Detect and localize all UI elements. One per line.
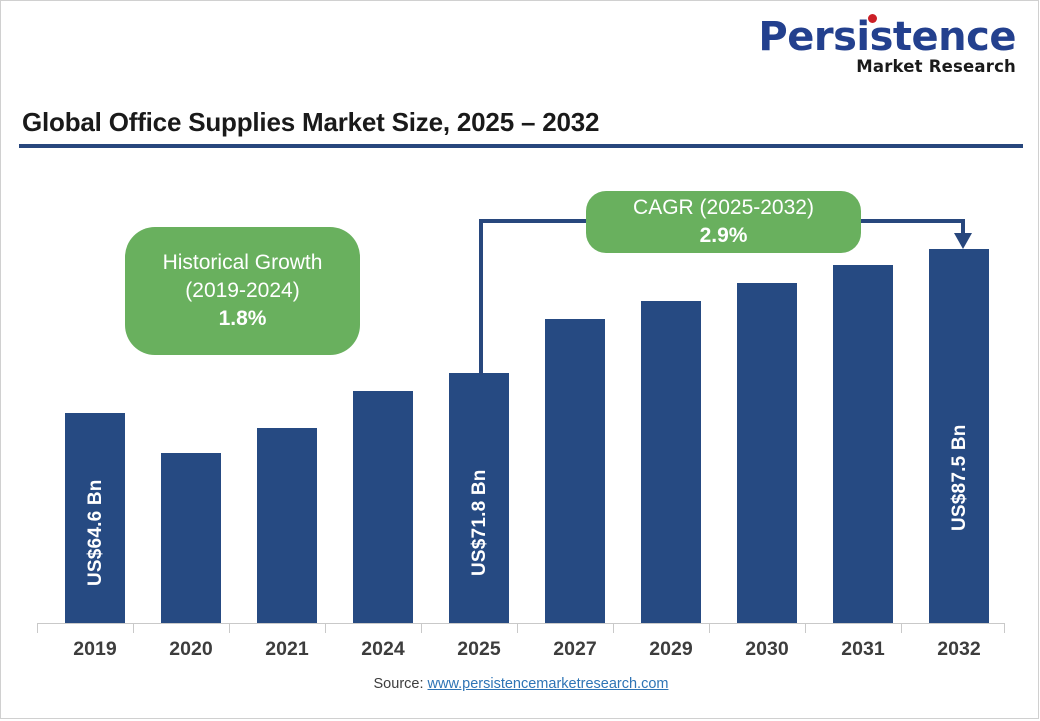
x-axis-tick (709, 623, 710, 633)
bar-label-2032: US$87.5 Bn (949, 424, 971, 531)
cagr-arrow-icon (954, 233, 972, 249)
bar-2031[interactable] (833, 265, 893, 623)
x-tick-label-2020: 2020 (151, 638, 231, 661)
bar-label-2025: US$71.8 Bn (469, 469, 491, 576)
bar-2030[interactable] (737, 283, 797, 623)
historical-growth-title: Historical Growth (163, 249, 323, 277)
bar-2021[interactable] (257, 428, 317, 623)
x-tick-label-2027: 2027 (535, 638, 615, 661)
x-tick-label-2021: 2021 (247, 638, 327, 661)
x-axis-tick (229, 623, 230, 633)
x-axis-tick (37, 623, 38, 633)
historical-growth-value: 1.8% (219, 305, 267, 333)
x-axis-tick (133, 623, 134, 633)
source-footer: Source: www.persistencemarketresearch.co… (1, 676, 1040, 692)
x-axis-tick (421, 623, 422, 633)
x-axis-tick (901, 623, 902, 633)
cagr-connector-horizontal-left (479, 219, 589, 223)
chart-card: Persistence Market Research Global Offic… (0, 0, 1039, 719)
bar-2029[interactable] (641, 301, 701, 623)
x-tick-label-2030: 2030 (727, 638, 807, 661)
cagr-title: CAGR (2025-2032) (633, 194, 814, 222)
cagr-callout[interactable]: CAGR (2025-2032) 2.9% (586, 191, 861, 253)
x-axis-tick (613, 623, 614, 633)
bar-label-2019: US$64.6 Bn (85, 479, 107, 586)
historical-growth-period: (2019-2024) (185, 277, 299, 305)
x-tick-label-2019: 2019 (55, 638, 135, 661)
bar-2024[interactable] (353, 391, 413, 623)
cagr-connector-vertical-left (479, 219, 483, 375)
x-axis-tick (517, 623, 518, 633)
cagr-value: 2.9% (700, 222, 748, 250)
x-tick-label-2032: 2032 (919, 638, 999, 661)
bar-2020[interactable] (161, 453, 221, 623)
x-tick-label-2024: 2024 (343, 638, 423, 661)
bar-2027[interactable] (545, 319, 605, 623)
source-link[interactable]: www.persistencemarketresearch.com (428, 676, 669, 692)
cagr-connector-horizontal-right (857, 219, 965, 223)
x-tick-label-2025: 2025 (439, 638, 519, 661)
x-tick-label-2029: 2029 (631, 638, 711, 661)
x-axis-tick (1004, 623, 1005, 633)
historical-growth-callout[interactable]: Historical Growth (2019-2024) 1.8% (125, 227, 360, 355)
x-axis-tick (805, 623, 806, 633)
x-axis-tick (325, 623, 326, 633)
x-axis-line (37, 623, 1005, 624)
source-prefix: Source: (374, 676, 428, 692)
bar-chart: US$64.6 Bn US$71.8 Bn US$87.5 Bn 2019 20… (1, 1, 1040, 721)
x-tick-label-2031: 2031 (823, 638, 903, 661)
